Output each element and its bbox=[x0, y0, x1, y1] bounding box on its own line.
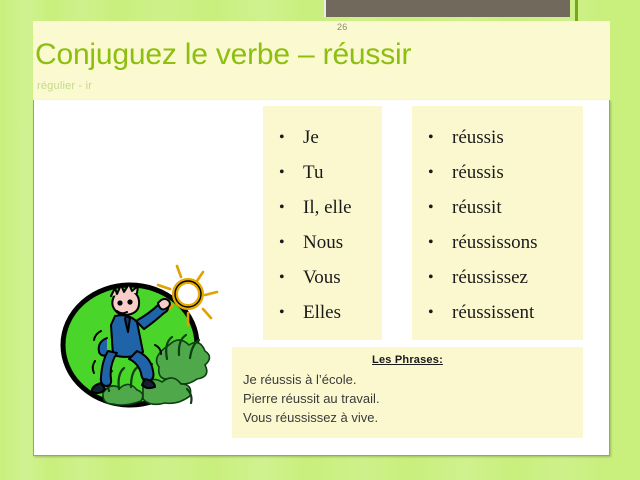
pronouns-box: Je Tu Il, elle Nous Vous Elles bbox=[263, 106, 382, 340]
list-item: Nous bbox=[279, 225, 382, 260]
phrases-heading: Les Phrases: bbox=[232, 347, 583, 366]
list-item: Vous réussissez à vive. bbox=[243, 408, 583, 427]
list-item: Pierre réussit au travail. bbox=[243, 389, 583, 408]
slide-canvas: 26 Conjuguez le verbe – réussir régulier… bbox=[0, 0, 640, 480]
pronoun-list: Je Tu Il, elle Nous Vous Elles bbox=[263, 106, 382, 330]
page-title: Conjuguez le verbe – réussir bbox=[35, 38, 411, 72]
list-item: réussissent bbox=[428, 295, 583, 330]
list-item: réussit bbox=[428, 190, 583, 225]
topbar-gray-accent bbox=[326, 0, 570, 17]
list-item: Vous bbox=[279, 260, 382, 295]
phrases-box: Les Phrases: Je réussis à l’école. Pierr… bbox=[232, 347, 583, 438]
list-item: réussis bbox=[428, 155, 583, 190]
list-item: Elles bbox=[279, 295, 382, 330]
topbar-olive-rule bbox=[575, 0, 578, 22]
list-item: réussissez bbox=[428, 260, 583, 295]
page-number: 26 bbox=[337, 22, 348, 32]
list-item: réussissons bbox=[428, 225, 583, 260]
man-jumping-in-green-circle-icon bbox=[57, 263, 219, 416]
list-item: Tu bbox=[279, 155, 382, 190]
conjugations-box: réussis réussis réussit réussissons réus… bbox=[412, 106, 583, 340]
phrases-list: Je réussis à l’école. Pierre réussit au … bbox=[232, 366, 583, 427]
list-item: Je bbox=[279, 120, 382, 155]
list-item: Je réussis à l’école. bbox=[243, 370, 583, 389]
conjugation-list: réussis réussis réussit réussissons réus… bbox=[412, 106, 583, 330]
list-item: Il, elle bbox=[279, 190, 382, 225]
page-subtitle: régulier - ir bbox=[37, 80, 92, 92]
list-item: réussis bbox=[428, 120, 583, 155]
